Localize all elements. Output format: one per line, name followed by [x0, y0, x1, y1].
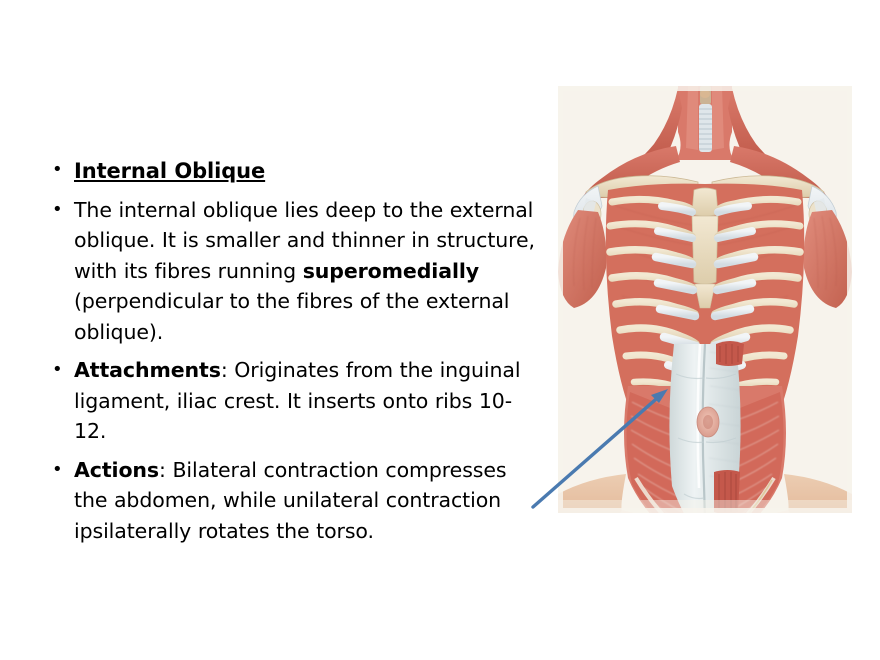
- slide-canvas: • Internal Oblique • The internal obliqu…: [0, 0, 880, 660]
- description-part-2: (perpendicular to the fibres of the exte…: [74, 289, 509, 344]
- list-item-text: Internal Oblique: [74, 156, 544, 187]
- bullet-marker-icon: •: [44, 355, 74, 385]
- list-item-text: Attachments: Originates from the inguina…: [74, 355, 544, 447]
- list-item-text: The internal oblique lies deep to the ex…: [74, 195, 544, 348]
- anatomy-figure-image: [558, 86, 852, 513]
- bullet-marker-icon: •: [44, 156, 74, 184]
- list-item-actions: • Actions: Bilateral contraction compres…: [44, 455, 544, 547]
- attachments-label: Attachments: [74, 358, 221, 382]
- list-item-attachments: • Attachments: Originates from the ingui…: [44, 355, 544, 447]
- bullet-marker-icon: •: [44, 455, 74, 485]
- heading-internal-oblique: Internal Oblique: [74, 159, 265, 183]
- actions-label: Actions: [74, 458, 159, 482]
- list-item-description: • The internal oblique lies deep to the …: [44, 195, 544, 348]
- description-emphasis-superomedially: superomedially: [303, 259, 479, 283]
- torso-anatomy-illustration: [558, 86, 852, 513]
- bullet-marker-icon: •: [44, 195, 74, 225]
- trachea: [699, 104, 712, 152]
- list-item-internal-oblique-heading: • Internal Oblique: [44, 156, 544, 187]
- list-item-text: Actions: Bilateral contraction compresse…: [74, 455, 544, 547]
- bullet-list: • Internal Oblique • The internal obliqu…: [44, 156, 544, 546]
